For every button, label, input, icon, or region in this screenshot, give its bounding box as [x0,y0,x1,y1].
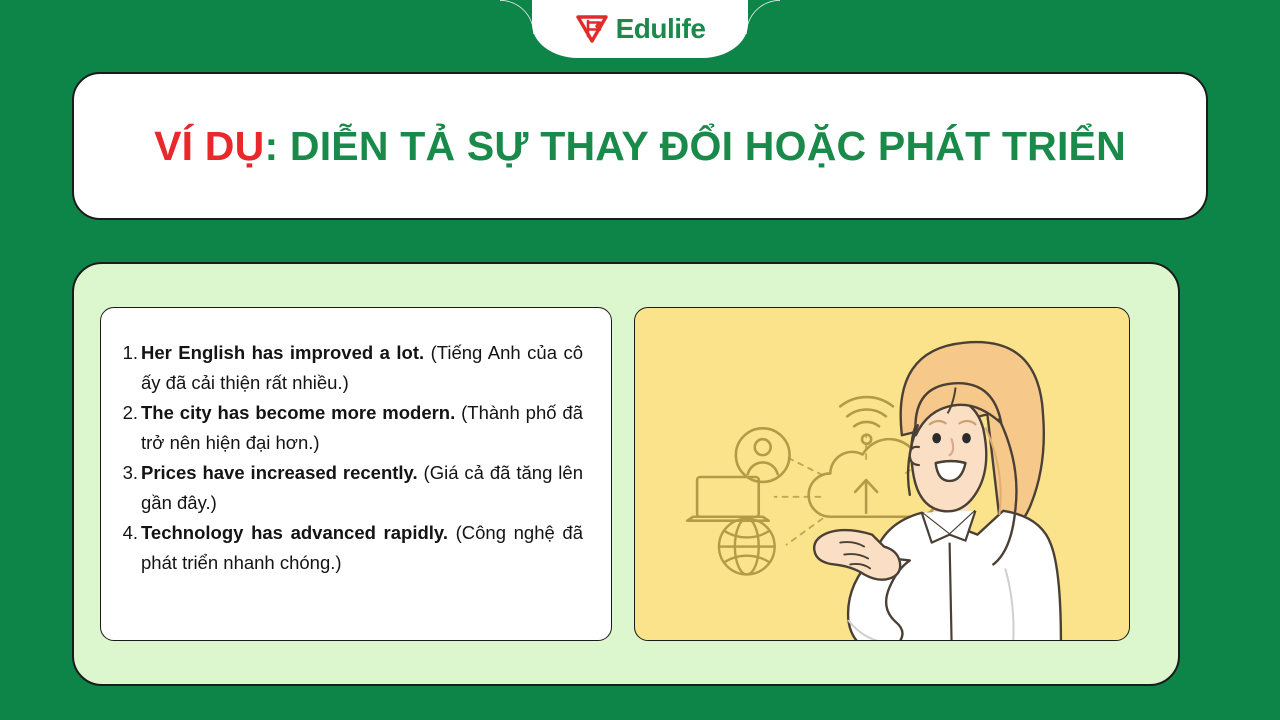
list-item-number: 2. [119,398,141,428]
examples-card: 1. Her English has improved a lot. (Tiến… [100,307,612,641]
list-item: 4. Technology has advanced rapidly. (Côn… [119,518,583,578]
eye-left [932,433,941,443]
page-title-accent: VÍ DỤ [154,123,264,169]
brand-header-tab: Edulife [532,0,748,58]
list-item: 1. Her English has improved a lot. (Tiến… [119,338,583,398]
examples-list: 1. Her English has improved a lot. (Tiến… [119,338,583,578]
list-item-number: 4. [119,518,141,548]
list-item-body: Prices have increased recently. (Giá cả … [141,458,583,518]
example-english: Her English has improved a lot. [141,342,424,363]
illustration-card [634,307,1130,641]
edulife-triangle-flag-logo [575,14,609,44]
example-english: Technology has advanced rapidly. [141,522,448,543]
page-title: VÍ DỤ: DIỄN TẢ SỰ THAY ĐỔI HOẶC PHÁT TRI… [154,123,1126,170]
list-item-body: Technology has advanced rapidly. (Công n… [141,518,583,578]
cloud-technology-illustration [635,308,1129,640]
list-item-body: The city has become more modern. (Thành … [141,398,583,458]
list-item-number: 1. [119,338,141,368]
brand-name: Edulife [616,15,706,43]
list-item-body: Her English has improved a lot. (Tiếng A… [141,338,583,398]
content-panel: 1. Her English has improved a lot. (Tiến… [72,262,1180,686]
list-item-number: 3. [119,458,141,488]
example-english: The city has become more modern. [141,402,455,423]
example-english: Prices have increased recently. [141,462,418,483]
eye-right [962,433,971,443]
list-item: 2. The city has become more modern. (Thà… [119,398,583,458]
title-card: VÍ DỤ: DIỄN TẢ SỰ THAY ĐỔI HOẶC PHÁT TRI… [72,72,1208,220]
page-title-rest: : DIỄN TẢ SỰ THAY ĐỔI HOẶC PHÁT TRIỂN [264,123,1125,169]
list-item: 3. Prices have increased recently. (Giá … [119,458,583,518]
